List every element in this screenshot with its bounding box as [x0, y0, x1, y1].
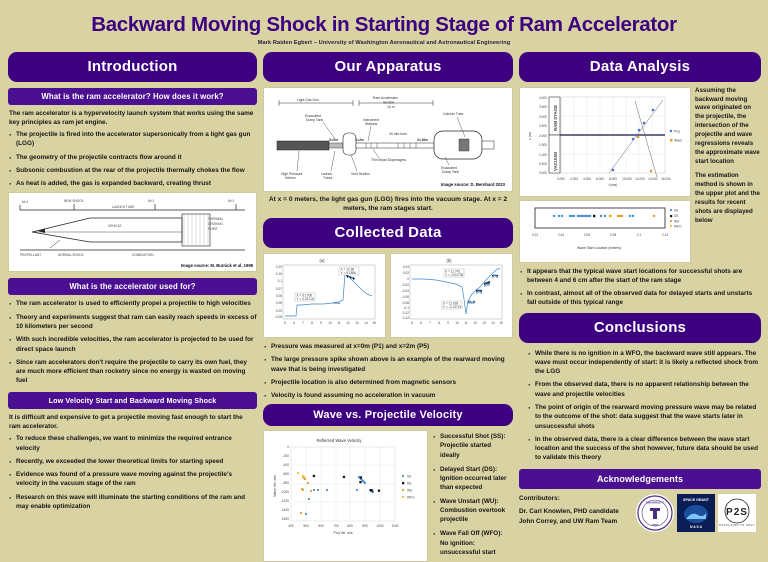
chart-wave-start-regression: RAM STAGE VACUUM — [519, 87, 691, 197]
list-item: Projectile location is also determined f… — [263, 378, 513, 387]
svg-text:-1200: -1200 — [281, 499, 289, 503]
intro-bullets-3: To reduce these challenges, we want to m… — [8, 434, 257, 511]
list-item: Wave Unstart (WU): Combustion overtook p… — [432, 497, 512, 524]
list-item: As heat is added, the gas is expanded ba… — [8, 179, 257, 188]
svg-text:1.500: 1.500 — [539, 143, 547, 147]
svg-text:1000: 1000 — [376, 524, 383, 528]
wave-start-regression-svg: RAM STAGE VACUUM — [523, 91, 689, 188]
space-grant-logo: SPACE GRANT N A S A — [677, 494, 715, 532]
svg-text:2.500: 2.500 — [539, 124, 547, 128]
svg-text:SS: SS — [407, 475, 411, 479]
list-item: Velocity is found assuming no accelerati… — [263, 391, 513, 400]
svg-text:X=2m: X=2m — [355, 138, 364, 142]
list-item: Delayed Start (DS): Ignition occurred la… — [432, 465, 512, 492]
conclusions-bullets: While there is no ignition in a WFO, the… — [519, 349, 761, 463]
svg-text:WFO: WFO — [674, 224, 682, 228]
svg-text:11: 11 — [464, 321, 468, 325]
svg-text:2.02: 2.02 — [532, 233, 538, 237]
svg-text:Ram Accelerator: Ram Accelerator — [373, 96, 399, 100]
svg-text:Section: Section — [383, 100, 394, 104]
svg-text:PROPULSION TO SPACE: PROPULSION TO SPACE — [719, 523, 755, 527]
svg-text:1861: 1861 — [652, 523, 659, 527]
contributors-text: Dr. Carl Knowlen, PHD candidate John Cor… — [519, 507, 631, 526]
figure-source-apparatus: Image source: D. Bernhard 2023 — [441, 182, 505, 187]
svg-text:12: 12 — [346, 321, 350, 325]
svg-text:RAM STAGE: RAM STAGE — [553, 104, 558, 130]
list-item: It appears that the typical wave start l… — [519, 267, 761, 286]
svg-text:Wave: Wave — [674, 138, 682, 142]
svg-text:UNIVERSITY: UNIVERSITY — [646, 500, 664, 504]
apparatus-caption: At x = 0 meters, the light gas gun (LGG)… — [263, 195, 513, 213]
list-item: Evidence was found of a pressure wave mo… — [8, 470, 257, 489]
svg-text:2.06: 2.06 — [584, 233, 590, 237]
author-affiliation: Mark Raiden Egbert – University of Washi… — [8, 40, 760, 46]
svg-text:Y = 0.02718: Y = 0.02718 — [297, 297, 314, 301]
svg-text:16 m: 16 m — [387, 105, 395, 109]
svg-text:THERMAL: THERMAL — [208, 217, 223, 221]
apparatus-svg: Light Gas Gun Ram Accelerator Section 16… — [267, 91, 508, 185]
svg-text:13: 13 — [482, 321, 486, 325]
data-analysis-row: RAM STAGE VACUUM — [519, 87, 761, 263]
list-item: From the observed data, there is no appa… — [527, 380, 761, 399]
svg-text:-600: -600 — [283, 472, 290, 476]
svg-text:10: 10 — [328, 321, 332, 325]
svg-text:LAUNCH TUBE: LAUNCH TUBE — [112, 205, 134, 209]
chart-pressure-p5: (b) X = 11.741 Y = -0.02790 — [390, 253, 513, 338]
wave-velocity-row: Reflected Wave Velocity — [263, 430, 513, 562]
svg-text:30 mm bore: 30 mm bore — [389, 132, 407, 136]
list-item: In contrast, almost all of the observed … — [519, 289, 761, 308]
p2s-logo: P2S PROPULSION TO SPACE — [718, 494, 756, 532]
svg-text:10.000: 10.000 — [622, 177, 632, 181]
nasa-space-grant-icon: SPACE GRANT N A S A — [678, 495, 714, 531]
svg-text:12: 12 — [473, 321, 477, 325]
svg-text:WFO: WFO — [407, 496, 415, 500]
svg-text:-0.04: -0.04 — [402, 289, 409, 293]
svg-text:N A S A: N A S A — [690, 525, 703, 529]
section-header-apparatus: Our Apparatus — [263, 52, 513, 82]
svg-text:15: 15 — [372, 321, 376, 325]
page-title: Backward Moving Shock in Starting Stage … — [8, 0, 760, 36]
svg-text:11: 11 — [337, 321, 341, 325]
svg-text:0.07: 0.07 — [276, 287, 282, 291]
list-item: Wave Fall Off (WFO): No ignition: unsucc… — [432, 529, 512, 556]
section-header-introduction: Introduction — [8, 52, 257, 82]
svg-text:14.000: 14.000 — [648, 177, 658, 181]
svg-text:(a): (a) — [319, 258, 325, 263]
svg-text:6.000: 6.000 — [596, 177, 604, 181]
svg-text:16.000: 16.000 — [661, 177, 671, 181]
ram-schematic-svg: M>1 NEW SHOCK LAUNCH TUBE M<1 M<1 VEHICL… — [12, 196, 253, 258]
data-analysis-bullets: It appears that the typical wave start l… — [519, 267, 761, 308]
column-middle: Our Apparatus Light Gas Gun Ram Accelera… — [263, 52, 513, 562]
svg-text:-400: -400 — [283, 463, 290, 467]
svg-text:0.1: 0.1 — [278, 279, 283, 283]
svg-text:0.02: 0.02 — [403, 271, 409, 275]
svg-text:15: 15 — [499, 321, 503, 325]
intro-bullets-2: The ram accelerator is used to efficient… — [8, 299, 257, 385]
svg-text:0.05: 0.05 — [276, 301, 282, 305]
list-item: Pressure was measured at x=0m (P1) and x… — [263, 342, 513, 351]
collected-data-charts: (a) X = 6.1708 Y = 0.02718 X = 12.66 Y =… — [263, 253, 513, 338]
svg-text:10: 10 — [455, 321, 459, 325]
svg-text:-200: -200 — [283, 454, 290, 458]
svg-text:M<1: M<1 — [148, 199, 155, 203]
sponsor-logos: UNIVERSITY 1861 SPACE GRANT N A S A — [636, 494, 756, 532]
svg-text:VEHICLE: VEHICLE — [108, 224, 122, 228]
list-item: To reduce these challenges, we want to m… — [8, 434, 257, 453]
svg-text:14: 14 — [364, 321, 368, 325]
list-item: While there is no ignition in a WFO, the… — [527, 349, 761, 377]
section-header-wave-velocity: Wave vs. Projectile Velocity — [263, 404, 513, 426]
data-analysis-figures: RAM STAGE VACUUM — [519, 87, 691, 263]
list-item: Theory and experiments suggest that ram … — [8, 313, 257, 332]
svg-text:400: 400 — [288, 524, 294, 528]
svg-text:(b): (b) — [446, 258, 452, 263]
svg-text:7: 7 — [302, 321, 304, 325]
list-item: Since ram accelerators don't require the… — [8, 358, 257, 386]
svg-text:Dump Tank: Dump Tank — [442, 170, 459, 174]
intro-paragraph: The ram accelerator is a hypervelocity l… — [9, 109, 256, 128]
svg-text:0.00: 0.00 — [276, 309, 282, 313]
svg-text:x (m): x (m) — [528, 132, 532, 140]
svg-text:0.000: 0.000 — [557, 177, 565, 181]
svg-text:NORMAL SHOCK: NORMAL SHOCK — [58, 253, 85, 257]
apparatus-diagram: Light Gas Gun Ram Accelerator Section 16… — [267, 91, 509, 188]
list-item: The projectile is fired into the acceler… — [8, 130, 257, 149]
subheader-low-velocity-start: Low Velocity Start and Backward Moving S… — [8, 392, 257, 409]
svg-text:M<1: M<1 — [228, 199, 235, 203]
intro-bullets-1: The projectile is fired into the acceler… — [8, 130, 257, 188]
svg-text:t (ms): t (ms) — [609, 183, 618, 187]
svg-text:800: 800 — [347, 524, 353, 528]
svg-text:2.12: 2.12 — [662, 233, 668, 237]
svg-text:3.500: 3.500 — [539, 105, 547, 109]
list-item: Successful Shot (SS): Projectile started… — [432, 432, 512, 459]
svg-text:0.06: 0.06 — [276, 294, 282, 298]
svg-text:0.000: 0.000 — [539, 171, 547, 175]
svg-text:600: 600 — [318, 524, 324, 528]
svg-text:Y = -0.02790: Y = -0.02790 — [445, 273, 464, 277]
svg-text:0.15: 0.15 — [276, 272, 282, 276]
analysis-text-1: Assuming the backward moving wave origin… — [695, 87, 761, 168]
svg-text:700: 700 — [333, 524, 339, 528]
subheader-accelerator-used-for: What is the accelerator used for? — [8, 278, 257, 295]
svg-text:Y = 0.1856: Y = 0.1856 — [341, 271, 357, 275]
collected-data-bullets: Pressure was measured at x=0m (P1) and x… — [263, 342, 513, 400]
svg-text:NEW SHOCK: NEW SHOCK — [64, 199, 85, 203]
svg-text:Wave Start Location (meters): Wave Start Location (meters) — [577, 246, 621, 250]
svg-text:WU: WU — [407, 489, 413, 493]
svg-text:Wave Vel, m/s: Wave Vel, m/s — [273, 475, 277, 497]
chart-wave-start-location: 2.022.042.06 2.082.12.12 Wave Start Loca… — [519, 200, 691, 263]
svg-text:6: 6 — [293, 321, 295, 325]
svg-text:SS: SS — [674, 208, 678, 212]
list-item: With such incredible velocities, the ram… — [8, 335, 257, 354]
reflected-wave-velocity-svg: Reflected Wave Velocity — [267, 434, 425, 538]
svg-text:CHOKING: CHOKING — [208, 222, 223, 226]
wave-start-location-svg: 2.022.042.06 2.082.12.12 Wave Start Loca… — [523, 204, 689, 254]
svg-text:Proj: Proj — [674, 129, 680, 133]
svg-text:4.000: 4.000 — [583, 177, 591, 181]
svg-text:9: 9 — [447, 321, 449, 325]
column-right: Data Analysis — [519, 52, 761, 532]
list-item: Recently, we exceeded the lower theoreti… — [8, 457, 257, 466]
svg-text:Catcher Tube: Catcher Tube — [443, 112, 463, 116]
svg-text:8.000: 8.000 — [609, 177, 617, 181]
list-item: Subsonic combustion at the rear of the p… — [8, 166, 257, 175]
svg-text:9: 9 — [320, 321, 322, 325]
figure-source-intro: Image source: M. Burnick et al, 1998 — [12, 263, 253, 268]
svg-text:POINT: POINT — [208, 227, 218, 231]
svg-text:-1000: -1000 — [281, 490, 289, 494]
svg-text:Light Gas Gun: Light Gas Gun — [297, 98, 319, 102]
analysis-text-2: The estimation method is shown in the up… — [695, 172, 761, 226]
svg-text:X=0m: X=0m — [329, 138, 338, 142]
svg-text:3.000: 3.000 — [539, 115, 547, 119]
svg-text:VACUUM: VACUUM — [553, 151, 558, 170]
svg-text:2.000: 2.000 — [539, 134, 547, 138]
svg-text:Thin Mylar Diaphragms: Thin Mylar Diaphragms — [371, 158, 406, 162]
svg-text:2.1: 2.1 — [637, 233, 642, 237]
svg-text:12.000: 12.000 — [635, 177, 645, 181]
svg-text:-0.06: -0.06 — [402, 295, 409, 299]
svg-text:5: 5 — [411, 321, 413, 325]
section-header-acknowledgements: Acknowledgements — [519, 469, 761, 489]
section-header-collected-data: Collected Data — [263, 218, 513, 248]
svg-text:DS: DS — [407, 482, 411, 486]
acknowledgements-body: Contributors: Dr. Carl Knowlen, PHD cand… — [519, 494, 761, 532]
svg-text:-800: -800 — [283, 481, 290, 485]
contributors-block: Contributors: Dr. Carl Knowlen, PHD cand… — [519, 494, 631, 527]
svg-text:2.000: 2.000 — [570, 177, 578, 181]
section-header-conclusions: Conclusions — [519, 313, 761, 343]
svg-text:0.04: 0.04 — [403, 265, 409, 269]
svg-text:SPACE GRANT: SPACE GRANT — [683, 498, 710, 502]
svg-text:DS: DS — [674, 214, 678, 218]
apparatus-figure: Light Gas Gun Ram Accelerator Section 16… — [263, 87, 513, 192]
svg-text:Vent Section: Vent Section — [351, 172, 370, 176]
svg-text:COMBUSTION: COMBUSTION — [132, 253, 154, 257]
svg-text:-0.12: -0.12 — [402, 311, 409, 315]
svg-text:6: 6 — [420, 321, 422, 325]
list-item: The ram accelerator is used to efficient… — [8, 299, 257, 308]
section-header-data-analysis: Data Analysis — [519, 52, 761, 82]
svg-text:5: 5 — [284, 321, 286, 325]
list-item: The large pressure spike shown above is … — [263, 355, 513, 374]
svg-text:-0.02: -0.02 — [402, 283, 409, 287]
svg-text:WU: WU — [674, 219, 680, 223]
subheader-what-is-ram: What is the ram accelerator? How does it… — [8, 88, 257, 105]
poster-root: Backward Moving Shock in Starting Stage … — [0, 0, 768, 512]
svg-text:8: 8 — [438, 321, 440, 325]
ram-accelerator-schematic-figure: M>1 NEW SHOCK LAUNCH TUBE M<1 M<1 VEHICL… — [8, 192, 257, 272]
svg-text:Proj Vel, m/s: Proj Vel, m/s — [333, 531, 352, 535]
svg-text:Stations: Stations — [365, 122, 378, 126]
svg-text:4.000: 4.000 — [539, 96, 547, 100]
svg-text:1.000: 1.000 — [539, 153, 547, 157]
data-analysis-sidetext: Assuming the backward moving wave origin… — [695, 87, 761, 263]
svg-text:7: 7 — [429, 321, 431, 325]
pressure-p1-svg: (a) X = 6.1708 Y = 0.02718 X = 12.66 Y =… — [267, 257, 382, 329]
chart-reflected-wave-velocity: Reflected Wave Velocity — [263, 430, 428, 562]
svg-text:13: 13 — [355, 321, 359, 325]
svg-text:-0.14: -0.14 — [402, 316, 409, 320]
column-left: Introduction What is the ram accelerator… — [8, 52, 257, 516]
svg-text:1100: 1100 — [392, 524, 399, 528]
svg-text:-1600: -1600 — [281, 517, 289, 521]
svg-text:Y = -0.13715: Y = -0.13715 — [443, 305, 462, 309]
svg-text:2.04: 2.04 — [558, 233, 564, 237]
uw-logo: UNIVERSITY 1861 — [636, 494, 674, 532]
svg-text:Reflected Wave Velocity: Reflected Wave Velocity — [317, 438, 363, 443]
svg-text:X=18m: X=18m — [417, 138, 428, 142]
list-item: The geometry of the projectile contracts… — [8, 153, 257, 162]
svg-text:M>1: M>1 — [22, 200, 29, 204]
svg-text:0: 0 — [407, 277, 409, 281]
svg-text:14: 14 — [491, 321, 495, 325]
wave-velocity-legend-list: Successful Shot (SS): Projectile started… — [432, 432, 512, 562]
list-item: The point of origin of the rearward movi… — [527, 403, 761, 431]
svg-text:PROPELLANT: PROPELLANT — [20, 253, 41, 257]
svg-text:0.20: 0.20 — [276, 265, 282, 269]
uw-seal-icon: UNIVERSITY 1861 — [637, 495, 673, 531]
svg-text:-0.1: -0.1 — [404, 306, 410, 310]
svg-text:2.08: 2.08 — [610, 233, 616, 237]
svg-text:-0.08: -0.08 — [402, 301, 409, 305]
svg-text:-0.05: -0.05 — [275, 315, 282, 319]
poster-columns: Introduction What is the ram accelerator… — [8, 52, 760, 562]
svg-text:0: 0 — [287, 445, 289, 449]
svg-text:Dump Tank: Dump Tank — [306, 118, 323, 122]
contributors-label: Contributors: — [519, 494, 631, 504]
svg-text:500: 500 — [303, 524, 309, 528]
svg-text:Tubes: Tubes — [323, 176, 333, 180]
p2s-icon: P2S PROPULSION TO SPACE — [719, 495, 755, 531]
svg-text:8: 8 — [311, 321, 313, 325]
low-velocity-paragraph: It is difficult and expensive to get a p… — [9, 413, 256, 432]
svg-text:900: 900 — [362, 524, 368, 528]
svg-text:0.500: 0.500 — [539, 162, 547, 166]
svg-text:Helium: Helium — [285, 176, 296, 180]
list-item: In the observed data, there is a clear d… — [527, 435, 761, 463]
svg-text:P2S: P2S — [726, 507, 748, 518]
pressure-p5-svg: (b) X = 11.741 Y = -0.02790 — [394, 257, 509, 329]
chart-pressure-p1: (a) X = 6.1708 Y = 0.02718 X = 12.66 Y =… — [263, 253, 386, 338]
list-item: Research on this wave will illuminate th… — [8, 493, 257, 512]
